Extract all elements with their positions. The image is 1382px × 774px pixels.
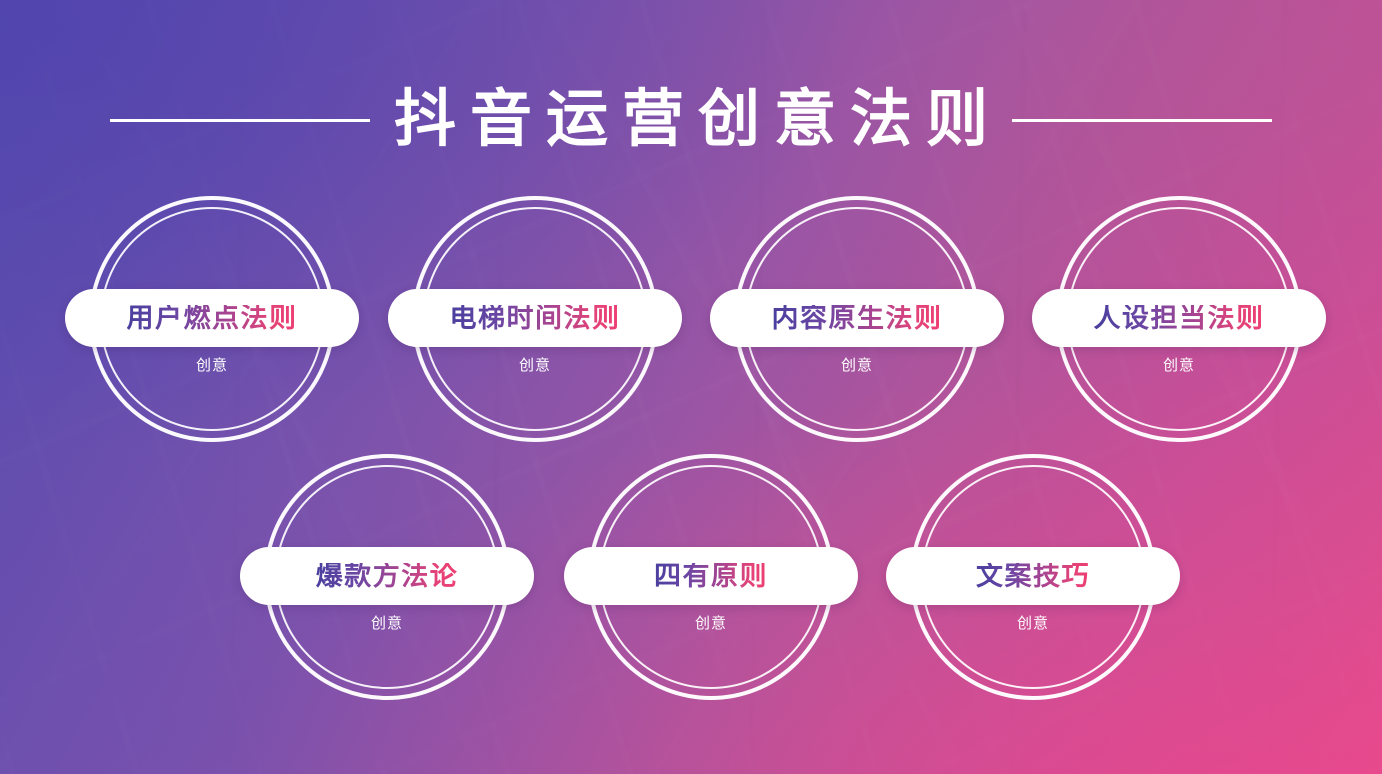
node-item[interactable]: 四有原则 创意	[588, 454, 834, 700]
node-item[interactable]: 人设担当法则 创意	[1056, 196, 1302, 442]
node-item[interactable]: 文案技巧 创意	[910, 454, 1156, 700]
node-label: 电梯时间法则	[450, 305, 621, 332]
node-pill[interactable]: 用户燃点法则	[65, 289, 359, 347]
node-label: 用户燃点法则	[127, 305, 298, 332]
node-item[interactable]: 内容原生法则 创意	[734, 196, 980, 442]
node-pill[interactable]: 四有原则	[564, 547, 858, 605]
node-sublabel: 创意	[412, 354, 658, 375]
node-pill[interactable]: 内容原生法则	[710, 289, 1004, 347]
title-rule-right	[1012, 119, 1272, 122]
slide-title-row: 抖音运营创意法则	[0, 74, 1382, 166]
node-pill[interactable]: 电梯时间法则	[388, 289, 682, 347]
node-label: 文案技巧	[976, 563, 1090, 590]
node-sublabel: 创意	[89, 354, 335, 375]
node-sublabel: 创意	[588, 612, 834, 633]
node-sublabel: 创意	[910, 612, 1156, 633]
node-label: 人设担当法则	[1094, 305, 1265, 332]
node-sublabel: 创意	[1056, 354, 1302, 375]
node-pill[interactable]: 爆款方法论	[240, 547, 534, 605]
node-sublabel: 创意	[264, 612, 510, 633]
node-pill[interactable]: 人设担当法则	[1032, 289, 1326, 347]
node-item[interactable]: 爆款方法论 创意	[264, 454, 510, 700]
title-rule-left	[110, 119, 370, 122]
node-label: 爆款方法论	[316, 563, 459, 590]
node-label: 四有原则	[654, 563, 768, 590]
page-title: 抖音运营创意法则	[376, 89, 1006, 151]
node-pill[interactable]: 文案技巧	[886, 547, 1180, 605]
node-sublabel: 创意	[734, 354, 980, 375]
node-label: 内容原生法则	[772, 305, 943, 332]
node-item[interactable]: 电梯时间法则 创意	[412, 196, 658, 442]
slide-canvas: 抖音运营创意法则 用户燃点法则 创意 电梯时间法则 创意 内容原生法则 创意 人…	[0, 0, 1382, 774]
node-item[interactable]: 用户燃点法则 创意	[89, 196, 335, 442]
